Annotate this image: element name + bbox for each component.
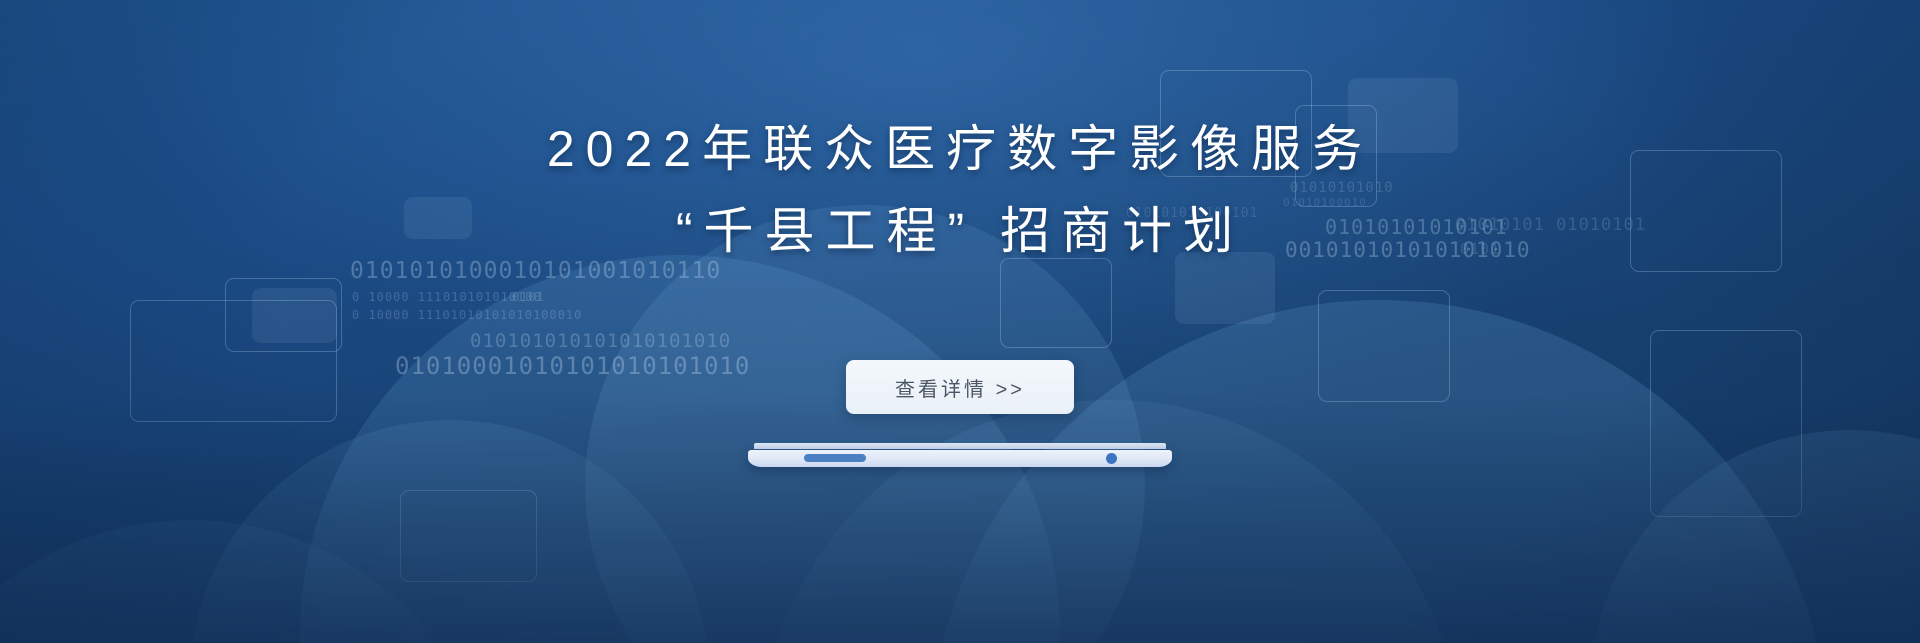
binary-code-text: 0 10000 11101010101010100010 [352,308,582,322]
promo-banner: 01010101000101010010101100 10000 1110101… [0,0,1920,643]
cloud-shape-far-left [0,520,500,643]
decorative-square-outline [1650,330,1802,517]
headline-line-1: 2022年联众医疗数字影像服务 [0,108,1920,190]
view-details-label: 查看详情 >> [895,373,1025,402]
laptop-indicator-dot-icon [1106,453,1117,464]
cloud-shape-right [930,300,1830,643]
headline-line-2: “千县工程” 招商计划 [0,190,1920,272]
cloud-shape-left-low [190,420,710,643]
background-glow [0,0,1920,643]
view-details-button[interactable]: 查看详情 >> [846,360,1074,414]
laptop-speaker-bar-icon [804,454,866,462]
binary-code-text: 0101 [512,290,545,304]
background-bottom-shade [0,393,1920,643]
decorative-square-outline [1318,290,1450,402]
binary-code-text: 01010001010101010101010 [395,352,750,380]
background-gradient [0,0,1920,643]
background-vignette [0,0,1920,643]
laptop-lid-edge [754,443,1166,449]
decorative-square-fill [252,288,337,343]
banner-headline: 2022年联众医疗数字影像服务 “千县工程” 招商计划 [0,108,1920,272]
cloud-shape-far-right [1590,430,1920,643]
binary-code-text: 010101010100 [443,290,542,304]
binary-code-text: 0 10000 111 [352,290,442,304]
laptop-illustration [748,443,1172,469]
cloud-shape-center-low [760,400,1460,643]
decorative-square-outline [400,490,537,582]
decorative-square-outline [225,278,342,352]
decorative-square-outline [130,300,337,422]
binary-code-text: 010101010101010101010 [470,330,731,352]
